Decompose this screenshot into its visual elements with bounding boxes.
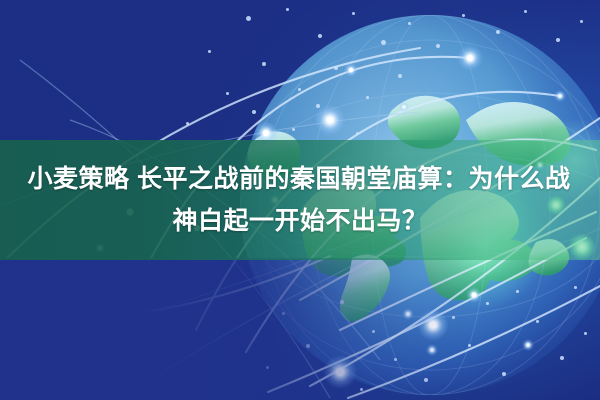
title-line-2: 神白起一开始不出马？	[172, 200, 427, 242]
banner-image: 小麦策略 长平之战前的秦国朝堂庙算：为什么战 神白起一开始不出马？	[0, 0, 600, 400]
title-band: 小麦策略 长平之战前的秦国朝堂庙算：为什么战 神白起一开始不出马？	[0, 140, 600, 260]
title-line-1: 小麦策略 长平之战前的秦国朝堂庙算：为什么战	[28, 158, 571, 200]
